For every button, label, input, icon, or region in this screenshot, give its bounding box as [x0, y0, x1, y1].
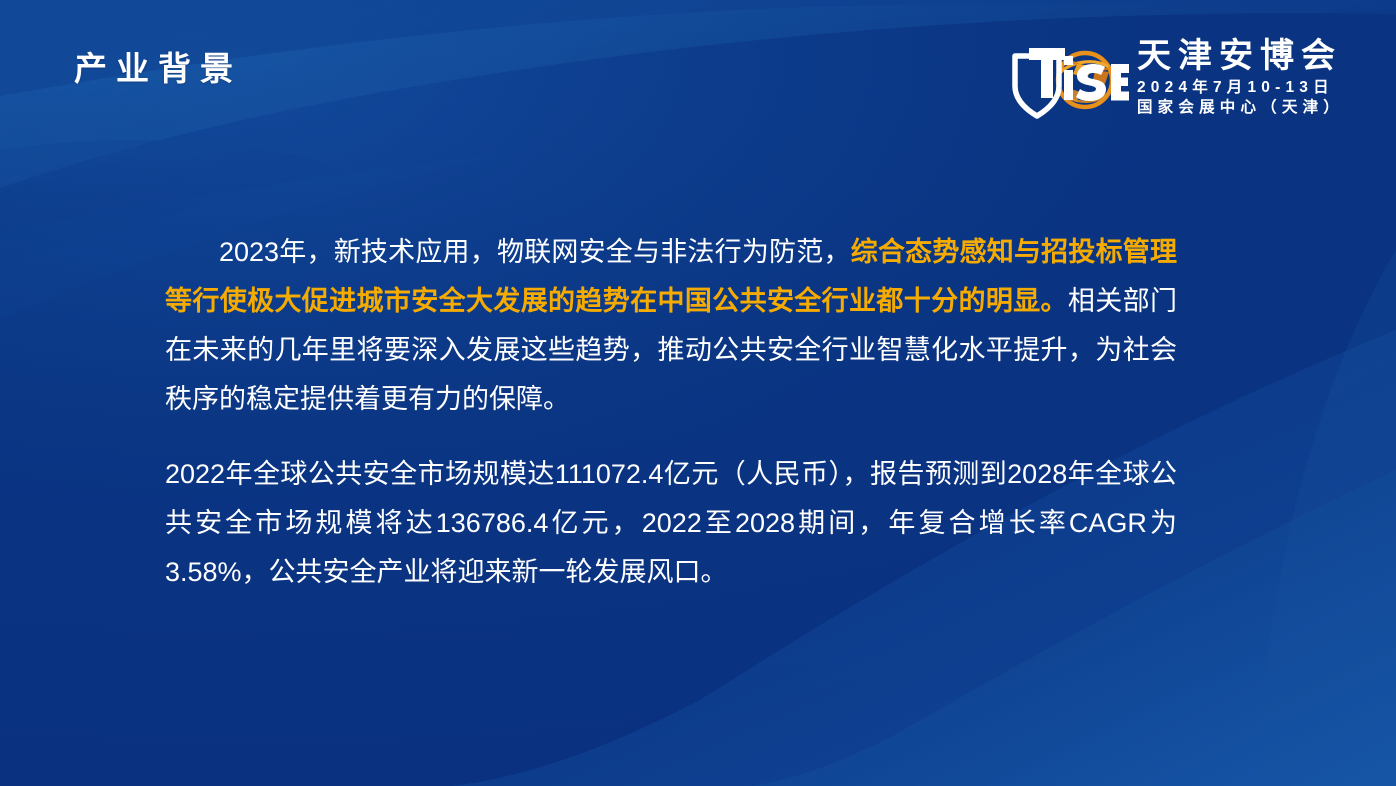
- tise-logo-mark: [1007, 36, 1129, 120]
- paragraph-1: 2023年，新技术应用，物联网安全与非法行为防范，综合态势感知与招投标管理等行使…: [165, 228, 1177, 424]
- slide-content: 2023年，新技术应用，物联网安全与非法行为防范，综合态势感知与招投标管理等行使…: [165, 228, 1177, 597]
- paragraph-2: 2022年全球公共安全市场规模达111072.4亿元（人民币），报告预测到202…: [165, 450, 1177, 597]
- slide-root: 产业背景: [0, 0, 1396, 786]
- shield-icon: [1015, 48, 1065, 116]
- page-title: 产业背景: [74, 52, 242, 85]
- slide-header: 产业背景: [0, 0, 1396, 150]
- paragraph-2-text: 2022年全球公共安全市场规模达111072.4亿元（人民币），报告预测到202…: [165, 459, 1177, 587]
- paragraph-1-lead: 2023年，新技术应用，物联网安全与非法行为防范，: [219, 237, 851, 267]
- event-date: 2024年7月10-13日: [1137, 78, 1344, 98]
- event-logo: 天津安博会 2024年7月10-13日 国家会展中心（天津）: [1007, 36, 1344, 120]
- event-venue: 国家会展中心（天津）: [1137, 98, 1344, 118]
- event-logo-text: 天津安博会 2024年7月10-13日 国家会展中心（天津）: [1137, 36, 1344, 119]
- event-name: 天津安博会: [1137, 38, 1344, 75]
